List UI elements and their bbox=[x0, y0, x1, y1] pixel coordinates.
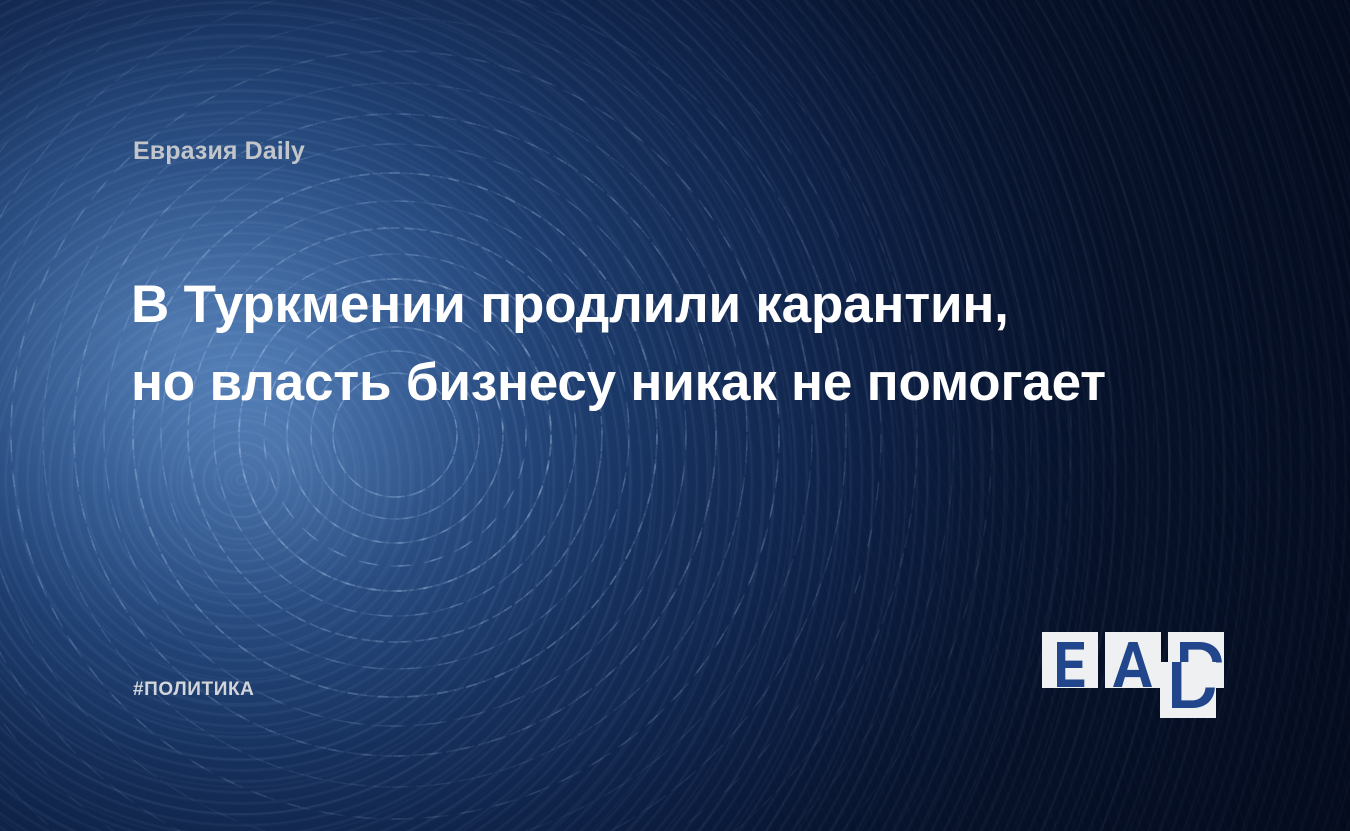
eadaily-logo[interactable] bbox=[1042, 632, 1224, 718]
logo-tile-a bbox=[1105, 632, 1161, 688]
brand-name: Евразия Daily bbox=[133, 137, 305, 166]
social-share-card: Евразия Daily В Туркмении продлили каран… bbox=[0, 0, 1350, 831]
headline-line-1: В Туркмении продлили карантин, bbox=[131, 266, 1221, 344]
card-content: Евразия Daily В Туркмении продлили каран… bbox=[0, 0, 1350, 831]
category-hashtag[interactable]: #ПОЛИТИКА bbox=[133, 679, 255, 701]
headline: В Туркмении продлили карантин, но власть… bbox=[131, 266, 1221, 422]
logo-letter-e bbox=[1057, 642, 1084, 687]
headline-line-2: но власть бизнесу никак не помогает bbox=[131, 344, 1221, 422]
